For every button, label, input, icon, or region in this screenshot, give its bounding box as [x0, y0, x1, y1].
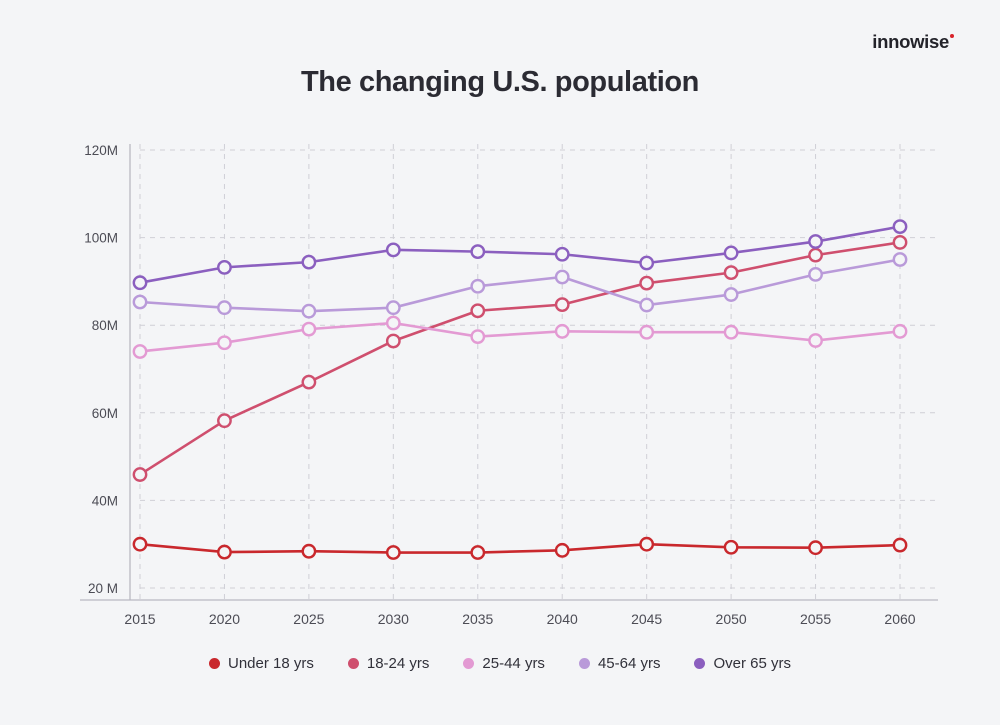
series-data-point[interactable] [387, 301, 399, 313]
series-data-point[interactable] [218, 546, 230, 558]
x-axis-tick-label: 2025 [293, 611, 324, 627]
y-axis-tick-label: 120M [84, 143, 118, 158]
y-axis-tick-label: 20 M [88, 581, 118, 596]
series-data-point[interactable] [303, 376, 315, 388]
chart-series [134, 538, 906, 559]
legend-swatch-dot-icon [209, 658, 220, 669]
series-data-point[interactable] [556, 298, 568, 310]
series-data-point[interactable] [472, 305, 484, 317]
series-data-point[interactable] [809, 268, 821, 280]
chart-series [134, 317, 906, 358]
series-data-point[interactable] [556, 325, 568, 337]
series-data-point[interactable] [640, 538, 652, 550]
series-data-point[interactable] [640, 257, 652, 269]
series-data-point[interactable] [809, 235, 821, 247]
chart-series [134, 236, 906, 481]
legend-item-label: Over 65 yrs [713, 655, 791, 672]
y-axis-tick-label: 100M [84, 231, 118, 246]
legend-item[interactable]: Over 65 yrs [694, 655, 791, 672]
series-data-point[interactable] [894, 236, 906, 248]
legend-item[interactable]: Under 18 yrs [209, 655, 314, 672]
x-axis-tick-label: 2030 [378, 611, 409, 627]
series-data-point[interactable] [640, 277, 652, 289]
series-data-point[interactable] [134, 468, 146, 480]
axis-layer [80, 144, 938, 600]
series-data-point[interactable] [725, 247, 737, 259]
legend-item[interactable]: 18-24 yrs [348, 655, 430, 672]
series-data-point[interactable] [472, 280, 484, 292]
series-data-point[interactable] [218, 414, 230, 426]
series-data-point[interactable] [134, 345, 146, 357]
series-data-point[interactable] [303, 545, 315, 557]
y-axis-tick-label: 80M [92, 318, 118, 333]
series-data-point[interactable] [894, 325, 906, 337]
series-data-point[interactable] [387, 317, 399, 329]
x-axis-labels: 2015202020252030203520402045205020552060 [124, 611, 915, 627]
x-axis-tick-label: 2045 [631, 611, 662, 627]
series-data-point[interactable] [387, 335, 399, 347]
series-data-point[interactable] [725, 266, 737, 278]
series-line [140, 544, 900, 552]
series-layer [134, 220, 906, 558]
series-line [140, 227, 900, 283]
series-data-point[interactable] [472, 546, 484, 558]
chart-page: innowise The changing U.S. population 20… [0, 0, 1000, 725]
x-axis-tick-label: 2055 [800, 611, 831, 627]
series-data-point[interactable] [640, 326, 652, 338]
x-axis-tick-label: 2035 [462, 611, 493, 627]
series-data-point[interactable] [387, 546, 399, 558]
y-axis-labels: 20 M40M60M80M100M120M [84, 143, 118, 596]
series-data-point[interactable] [894, 220, 906, 232]
legend-item-label: 18-24 yrs [367, 655, 430, 672]
series-data-point[interactable] [809, 249, 821, 261]
series-line [140, 242, 900, 474]
legend-item[interactable]: 45-64 yrs [579, 655, 661, 672]
series-data-point[interactable] [218, 261, 230, 273]
line-chart-svg: 20 M40M60M80M100M120M 201520202025203020… [0, 0, 1000, 725]
series-data-point[interactable] [556, 248, 568, 260]
x-axis-tick-label: 2020 [209, 611, 240, 627]
chart-series [134, 220, 906, 288]
series-data-point[interactable] [134, 296, 146, 308]
x-axis-tick-label: 2015 [124, 611, 155, 627]
series-data-point[interactable] [894, 253, 906, 265]
series-data-point[interactable] [387, 244, 399, 256]
chart-legend: Under 18 yrs18-24 yrs25-44 yrs45-64 yrsO… [0, 655, 1000, 672]
series-data-point[interactable] [725, 326, 737, 338]
series-data-point[interactable] [472, 245, 484, 257]
x-axis-tick-label: 2040 [547, 611, 578, 627]
series-data-point[interactable] [556, 544, 568, 556]
legend-swatch-dot-icon [579, 658, 590, 669]
series-data-point[interactable] [725, 541, 737, 553]
legend-swatch-dot-icon [348, 658, 359, 669]
legend-item-label: 45-64 yrs [598, 655, 661, 672]
series-data-point[interactable] [303, 256, 315, 268]
series-data-point[interactable] [556, 271, 568, 283]
series-data-point[interactable] [725, 288, 737, 300]
series-data-point[interactable] [303, 305, 315, 317]
series-data-point[interactable] [134, 538, 146, 550]
series-data-point[interactable] [218, 301, 230, 313]
series-data-point[interactable] [894, 539, 906, 551]
chart-plot-area: 20 M40M60M80M100M120M 201520202025203020… [0, 0, 1000, 725]
legend-swatch-dot-icon [694, 658, 705, 669]
legend-item-label: 25-44 yrs [482, 655, 545, 672]
series-line [140, 260, 900, 312]
series-data-point[interactable] [303, 323, 315, 335]
legend-item[interactable]: 25-44 yrs [463, 655, 545, 672]
x-axis-tick-label: 2060 [884, 611, 915, 627]
series-data-point[interactable] [640, 299, 652, 311]
legend-item-label: Under 18 yrs [228, 655, 314, 672]
grid-layer [140, 144, 938, 600]
y-axis-tick-label: 40M [92, 493, 118, 508]
series-data-point[interactable] [809, 542, 821, 554]
y-axis-tick-label: 60M [92, 406, 118, 421]
legend-swatch-dot-icon [463, 658, 474, 669]
series-data-point[interactable] [218, 337, 230, 349]
series-data-point[interactable] [134, 277, 146, 289]
series-data-point[interactable] [472, 330, 484, 342]
x-axis-tick-label: 2050 [716, 611, 747, 627]
series-line [140, 323, 900, 351]
series-data-point[interactable] [809, 334, 821, 346]
